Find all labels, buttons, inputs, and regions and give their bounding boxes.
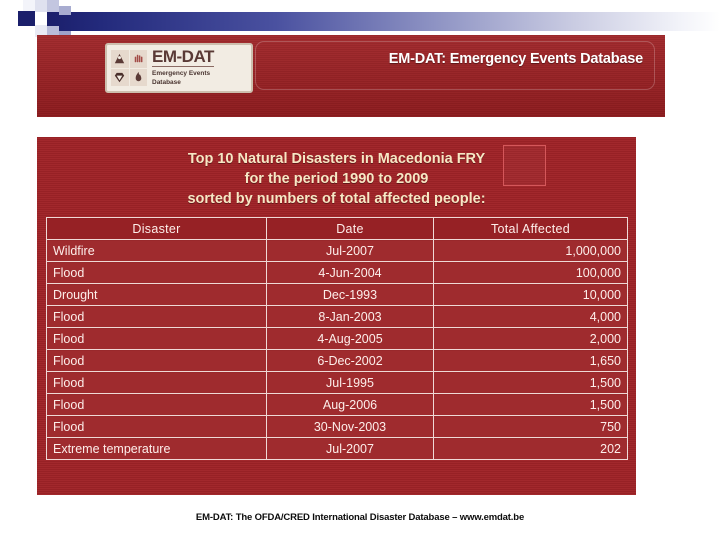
diamond-icon (111, 69, 129, 87)
cell-total-affected: 1,650 (434, 350, 628, 372)
deco-square-light (23, 0, 35, 11)
table-row: DroughtDec-199310,000 (47, 284, 628, 306)
report-title: Top 10 Natural Disasters in Macedonia FR… (37, 137, 636, 209)
cell-total-affected: 4,000 (434, 306, 628, 328)
report-title-line-1: Top 10 Natural Disasters in Macedonia FR… (37, 149, 636, 169)
deco-square-mid-3 (59, 6, 71, 15)
deco-square-mid-1 (47, 0, 59, 12)
cell-total-affected: 100,000 (434, 262, 628, 284)
cell-date: 30-Nov-2003 (267, 416, 434, 438)
cell-date: 4-Jun-2004 (267, 262, 434, 284)
gradient-bar (47, 12, 720, 31)
table-row: WildfireJul-20071,000,000 (47, 240, 628, 262)
table-row: Flood6-Dec-20021,650 (47, 350, 628, 372)
cell-disaster: Flood (47, 350, 267, 372)
cell-disaster: Flood (47, 328, 267, 350)
logo-subtitle-line1: Emergency Events (152, 70, 214, 79)
cell-disaster: Wildfire (47, 240, 267, 262)
cell-disaster: Flood (47, 394, 267, 416)
report-title-line-2: for the period 1990 to 2009 (37, 169, 636, 189)
table-row: FloodJul-19951,500 (47, 372, 628, 394)
table-row: Flood30-Nov-2003750 (47, 416, 628, 438)
banner-title: EM-DAT: Emergency Events Database (389, 51, 643, 67)
cell-date: Dec-1993 (267, 284, 434, 306)
cell-date: Aug-2006 (267, 394, 434, 416)
source-footer: EM-DAT: The OFDA/CRED International Disa… (0, 512, 720, 523)
logo-subtitle: Emergency Events Database (152, 70, 214, 88)
deco-square-pale-1 (35, 0, 47, 12)
cell-date: 8-Jan-2003 (267, 306, 434, 328)
emdat-site-banner: EM-DAT Emergency Events Database EM-DAT:… (37, 35, 665, 117)
table-row: FloodAug-20061,500 (47, 394, 628, 416)
deco-square-dark (18, 11, 35, 26)
volcano-icon (111, 50, 129, 68)
cell-disaster: Flood (47, 306, 267, 328)
report-panel: Top 10 Natural Disasters in Macedonia FR… (37, 137, 636, 495)
table-row: Flood4-Aug-20052,000 (47, 328, 628, 350)
table-body: WildfireJul-20071,000,000Flood4-Jun-2004… (47, 240, 628, 460)
cell-total-affected: 202 (434, 438, 628, 460)
cell-total-affected: 750 (434, 416, 628, 438)
logo-subtitle-line2: Database (152, 79, 214, 88)
table-row: Flood8-Jan-20034,000 (47, 306, 628, 328)
logo-icon-grid (111, 50, 147, 86)
flame-icon (130, 69, 148, 87)
table-row: Flood4-Jun-2004100,000 (47, 262, 628, 284)
cell-total-affected: 1,500 (434, 394, 628, 416)
cell-disaster: Flood (47, 262, 267, 284)
logo-title: EM-DAT (152, 48, 214, 67)
fry-selection-box[interactable] (503, 145, 546, 186)
cell-date: Jul-2007 (267, 438, 434, 460)
cell-total-affected: 2,000 (434, 328, 628, 350)
cell-total-affected: 10,000 (434, 284, 628, 306)
cell-date: 4-Aug-2005 (267, 328, 434, 350)
hand-icon (130, 50, 148, 68)
slide-header-decoration (0, 0, 720, 36)
cell-disaster: Drought (47, 284, 267, 306)
column-header-total-affected[interactable]: Total Affected (434, 218, 628, 240)
cell-total-affected: 1,000,000 (434, 240, 628, 262)
column-header-disaster[interactable]: Disaster (47, 218, 267, 240)
disasters-table: Disaster Date Total Affected WildfireJul… (46, 217, 628, 460)
table-header-row: Disaster Date Total Affected (47, 218, 628, 240)
cell-disaster: Flood (47, 416, 267, 438)
column-header-date[interactable]: Date (267, 218, 434, 240)
emdat-logo[interactable]: EM-DAT Emergency Events Database (105, 43, 253, 93)
cell-date: Jul-1995 (267, 372, 434, 394)
cell-total-affected: 1,500 (434, 372, 628, 394)
logo-text: EM-DAT Emergency Events Database (152, 48, 214, 88)
table-row: Extreme temperatureJul-2007202 (47, 438, 628, 460)
cell-disaster: Flood (47, 372, 267, 394)
cell-date: 6-Dec-2002 (267, 350, 434, 372)
cell-disaster: Extreme temperature (47, 438, 267, 460)
report-title-line-3: sorted by numbers of total affected peop… (37, 189, 636, 209)
cell-date: Jul-2007 (267, 240, 434, 262)
